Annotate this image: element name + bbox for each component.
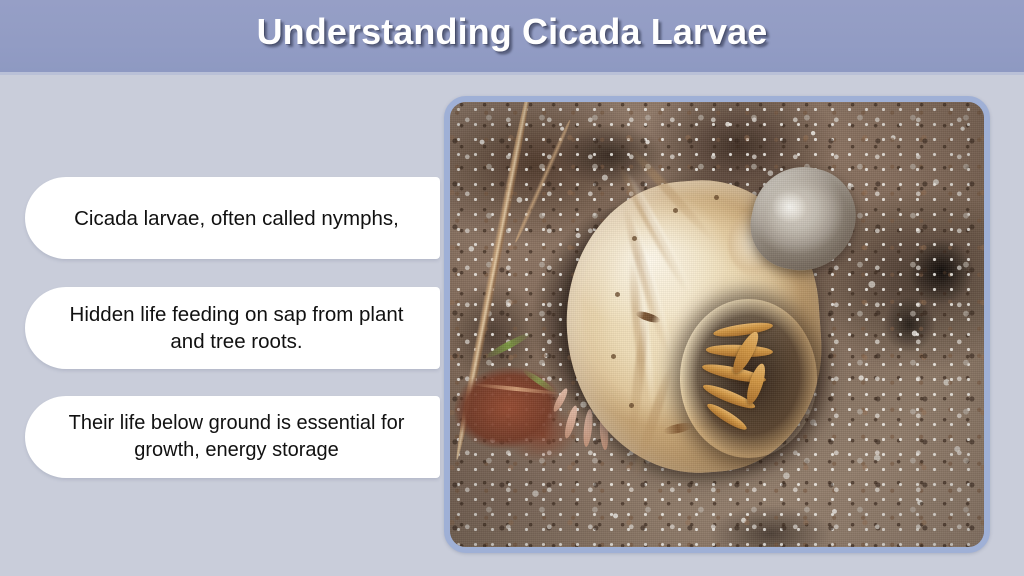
slide: Understanding Cicada Larvae Cicada larva…	[0, 0, 1024, 576]
cicada-larva	[557, 160, 899, 507]
bullet-bubble-2: Hidden life feeding on sap from plant an…	[25, 287, 440, 369]
photo-frame	[444, 96, 990, 553]
bullet-text-2: Hidden life feeding on sap from plant an…	[59, 301, 414, 355]
bullet-bubble-3: Their life below ground is essential for…	[25, 396, 440, 478]
spiracle	[629, 403, 634, 408]
leg-claw	[744, 361, 769, 405]
leg	[713, 320, 774, 339]
bullet-bubble-1: Cicada larvae, often called nymphs,	[25, 177, 440, 259]
bullet-text-3: Their life below ground is essential for…	[59, 410, 414, 464]
header-underline	[0, 72, 1024, 75]
larva-photo	[450, 102, 984, 547]
bullet-text-1: Cicada larvae, often called nymphs,	[74, 205, 399, 232]
spiracle	[714, 195, 719, 200]
larva-legs	[694, 317, 823, 460]
page-title: Understanding Cicada Larvae	[0, 11, 1024, 53]
spiracle	[615, 292, 620, 297]
